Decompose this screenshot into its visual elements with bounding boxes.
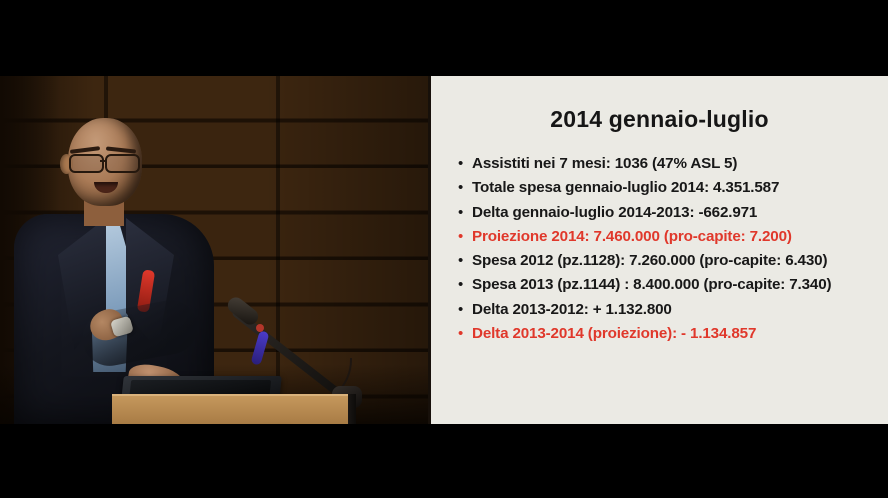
slide-bullet-item: •Spesa 2013 (pz.1144) : 8.400.000 (pro-c…	[458, 276, 882, 295]
slide-bullet-item: •Totale spesa gennaio-luglio 2014: 4.351…	[458, 179, 882, 198]
bullet-dot-icon: •	[458, 325, 472, 344]
bullet-dot-icon: •	[458, 252, 472, 271]
slide-bullet-item: •Delta gennaio-luglio 2014-2013: -662.97…	[458, 204, 882, 223]
bullet-dot-icon: •	[458, 204, 472, 223]
glasses-lens-left	[69, 154, 104, 173]
slide-bullet-item: •Delta 2013-2012: + 1.132.800	[458, 301, 882, 320]
glasses-icon	[69, 154, 143, 169]
bullet-dot-icon: •	[458, 276, 472, 295]
video-content-band: F. MENICHETTI 2014 gennaio-luglio •Assis…	[0, 76, 888, 424]
podium-desktop-surface	[112, 394, 348, 424]
presentation-slide: 2014 gennaio-luglio •Assistiti nei 7 mes…	[428, 76, 888, 424]
slide-bullet-text: Spesa 2012 (pz.1128): 7.260.000 (pro-cap…	[472, 252, 827, 270]
slide-bullet-text: Assistiti nei 7 mesi: 1036 (47% ASL 5)	[472, 155, 737, 173]
slide-content: 2014 gennaio-luglio •Assistiti nei 7 mes…	[431, 76, 888, 424]
slide-bullet-text: Delta 2013-2014 (proiezione): - 1.134.85…	[472, 325, 756, 343]
slide-bullet-text: Totale spesa gennaio-luglio 2014: 4.351.…	[472, 179, 779, 197]
slide-title: 2014 gennaio-luglio	[431, 106, 888, 133]
glasses-lens-right	[105, 154, 140, 173]
bullet-dot-icon: •	[458, 155, 472, 174]
camera-view-speaker: F. MENICHETTI	[0, 76, 428, 424]
slide-bullet-text: Delta gennaio-luglio 2014-2013: -662.971	[472, 204, 757, 222]
bullet-dot-icon: •	[458, 301, 472, 320]
slide-bullet-item: •Assistiti nei 7 mesi: 1036 (47% ASL 5)	[458, 155, 882, 174]
bullet-dot-icon: •	[458, 179, 472, 198]
slide-bullet-text: Delta 2013-2012: + 1.132.800	[472, 301, 672, 319]
slide-bullet-item: •Delta 2013-2014 (proiezione): - 1.134.8…	[458, 325, 882, 344]
slide-bullet-item: •Proiezione 2014: 7.460.000 (pro-capite:…	[458, 228, 882, 247]
slide-bullet-text: Proiezione 2014: 7.460.000 (pro-capite: …	[472, 228, 792, 246]
slide-bullet-list: •Assistiti nei 7 mesi: 1036 (47% ASL 5)•…	[458, 155, 882, 349]
slide-bullet-item: •Spesa 2012 (pz.1128): 7.260.000 (pro-ca…	[458, 252, 882, 271]
video-frame: F. MENICHETTI 2014 gennaio-luglio •Assis…	[0, 0, 888, 498]
bullet-dot-icon: •	[458, 228, 472, 247]
slide-bullet-text: Spesa 2013 (pz.1144) : 8.400.000 (pro-ca…	[472, 276, 831, 294]
